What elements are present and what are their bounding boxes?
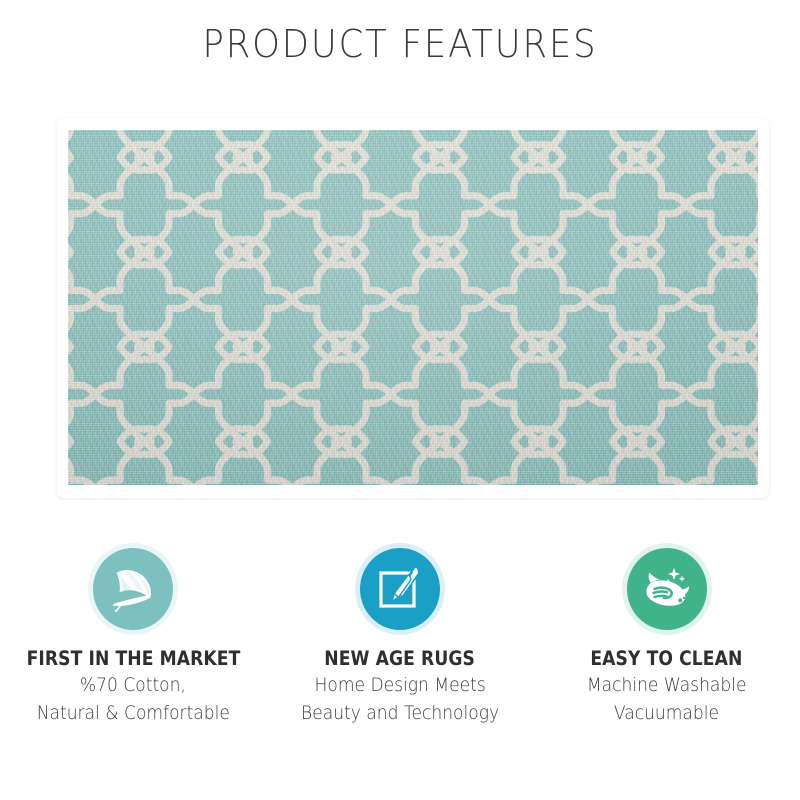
rug-border — [57, 118, 769, 498]
feature-subtitle-line-1: Machine Washable — [587, 672, 747, 699]
feature-subtitle-line-1: Home Design Meets — [314, 672, 485, 699]
feather-icon — [108, 565, 158, 613]
design-pen-square-icon — [375, 564, 425, 614]
feature-heading: EASY TO CLEAN — [591, 647, 743, 670]
feather-icon-badge — [93, 548, 173, 630]
features-row: FIRST IN THE MARKET %70 Cotton, Natural … — [0, 548, 800, 727]
feature-item-easy-to-clean: EASY TO CLEAN Machine Washable Vacuumabl… — [533, 548, 800, 727]
feature-item-first-in-the-market: FIRST IN THE MARKET %70 Cotton, Natural … — [0, 548, 267, 727]
feature-heading: FIRST IN THE MARKET — [26, 647, 240, 670]
feature-subtitle-line-2: Natural & Comfortable — [37, 700, 230, 727]
cleaning-hand-sparkle-icon-badge — [627, 548, 707, 630]
cleaning-hand-sparkle-icon — [641, 565, 693, 613]
page-title: PRODUCT FEATURES — [28, 22, 772, 66]
feature-subtitle-line-1: %70 Cotton, — [80, 672, 186, 699]
feature-subtitle-line-2: Beauty and Technology — [301, 700, 499, 727]
product-image-container — [57, 118, 769, 498]
feature-heading: NEW AGE RUGS — [325, 647, 476, 670]
trellis-lattice-pattern — [68, 130, 758, 485]
feature-item-new-age-rugs: NEW AGE RUGS Home Design Meets Beauty an… — [267, 548, 534, 727]
rug-pattern-field — [68, 130, 758, 485]
feature-subtitle-line-2: Vacuumable — [614, 700, 719, 727]
design-pen-square-icon-badge — [360, 548, 440, 630]
product-features-page: PRODUCT FEATURES — [0, 0, 800, 800]
